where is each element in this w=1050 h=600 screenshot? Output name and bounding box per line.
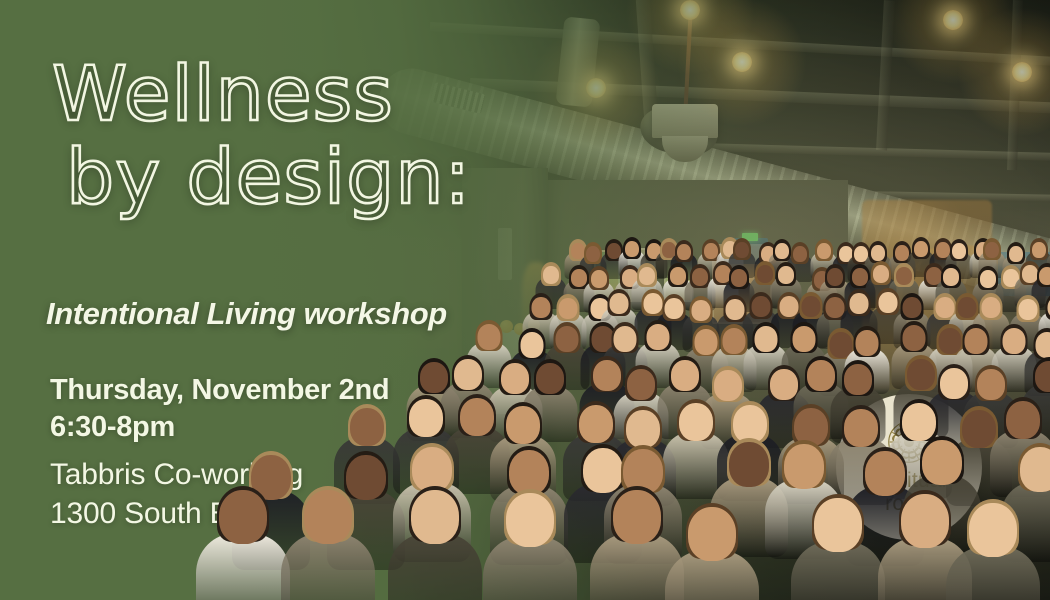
person-head: [691, 300, 710, 321]
person-head: [792, 326, 815, 352]
person-head: [692, 268, 708, 286]
person-head: [555, 326, 578, 352]
person-head: [1020, 447, 1050, 492]
person-head: [679, 403, 713, 441]
person-head: [964, 328, 987, 354]
person-head: [1035, 361, 1050, 392]
person-head: [558, 298, 577, 319]
audience-person: [196, 488, 290, 600]
audience-person: [281, 488, 375, 600]
person-head: [1006, 401, 1040, 439]
person-head: [613, 490, 661, 544]
person-head: [729, 442, 769, 487]
person-head: [896, 267, 912, 285]
person-head: [1002, 328, 1025, 354]
person-head: [871, 245, 885, 261]
person-head: [591, 270, 607, 288]
person-head: [454, 359, 482, 390]
person-head: [943, 268, 959, 286]
person-head: [304, 490, 352, 544]
person-head: [751, 296, 770, 317]
person-head: [409, 399, 443, 437]
person-head: [543, 266, 559, 284]
person-head: [626, 410, 660, 448]
person-head: [969, 503, 1017, 557]
person-head: [627, 369, 655, 400]
person-head: [902, 297, 921, 318]
person-head: [411, 490, 459, 544]
person-head: [613, 326, 636, 352]
person-head: [865, 451, 905, 496]
person-head: [625, 241, 639, 257]
person-head: [985, 242, 999, 258]
person-head: [901, 494, 949, 548]
person-head: [873, 265, 889, 283]
person-head: [1018, 299, 1037, 320]
person-head: [952, 243, 966, 259]
person-head: [1009, 246, 1023, 262]
person-head: [844, 364, 872, 395]
person-head: [722, 328, 745, 354]
person-head: [536, 363, 564, 394]
audience-person: [388, 488, 482, 600]
person-head: [1035, 332, 1050, 358]
person-head: [579, 405, 613, 443]
person-head: [844, 409, 878, 447]
poster-title: Wellnessby design:: [52, 58, 471, 214]
person-head: [586, 246, 600, 262]
event-poster: Wellnessby design: Intentional Living wo…: [0, 0, 1050, 600]
person-head: [688, 507, 736, 561]
person-head: [664, 298, 683, 319]
person-head: [506, 493, 554, 547]
person-head: [1039, 267, 1050, 285]
person-head: [477, 324, 500, 350]
person-head: [814, 498, 862, 552]
person-head: [506, 406, 540, 444]
audience-person: [791, 496, 885, 600]
person-head: [350, 408, 384, 446]
person-head: [731, 269, 747, 287]
person-head: [980, 270, 996, 288]
audience-person: [665, 505, 759, 600]
person-head: [639, 267, 655, 285]
person-head: [609, 293, 628, 314]
person-head: [793, 246, 807, 262]
person-head: [219, 490, 267, 544]
person-head: [460, 398, 494, 436]
person-head: [677, 244, 691, 260]
person-head: [914, 241, 928, 257]
person-head: [646, 324, 669, 350]
person-head: [520, 332, 543, 358]
person-head: [531, 297, 550, 318]
person-head: [735, 242, 749, 258]
audience-person: [946, 501, 1040, 600]
person-head: [827, 268, 843, 286]
person-head: [922, 440, 962, 485]
event-date: Thursday, November 2nd: [50, 372, 389, 409]
person-head: [1032, 242, 1046, 258]
person-head: [849, 293, 868, 314]
poster-subtitle: Intentional Living workshop: [46, 296, 447, 332]
person-head: [714, 370, 742, 401]
person-head: [981, 297, 1000, 318]
person-head: [778, 266, 794, 284]
person-head: [977, 369, 1005, 400]
person-head: [855, 330, 878, 356]
title-line-1: Wellness: [52, 49, 394, 138]
title-line-2: by design:: [52, 141, 471, 214]
audience-person: [483, 491, 577, 600]
person-head: [754, 326, 777, 352]
person-head: [817, 243, 831, 259]
person-head: [902, 325, 925, 351]
person-head: [902, 403, 936, 441]
person-head: [671, 360, 699, 391]
person-head: [784, 444, 824, 489]
